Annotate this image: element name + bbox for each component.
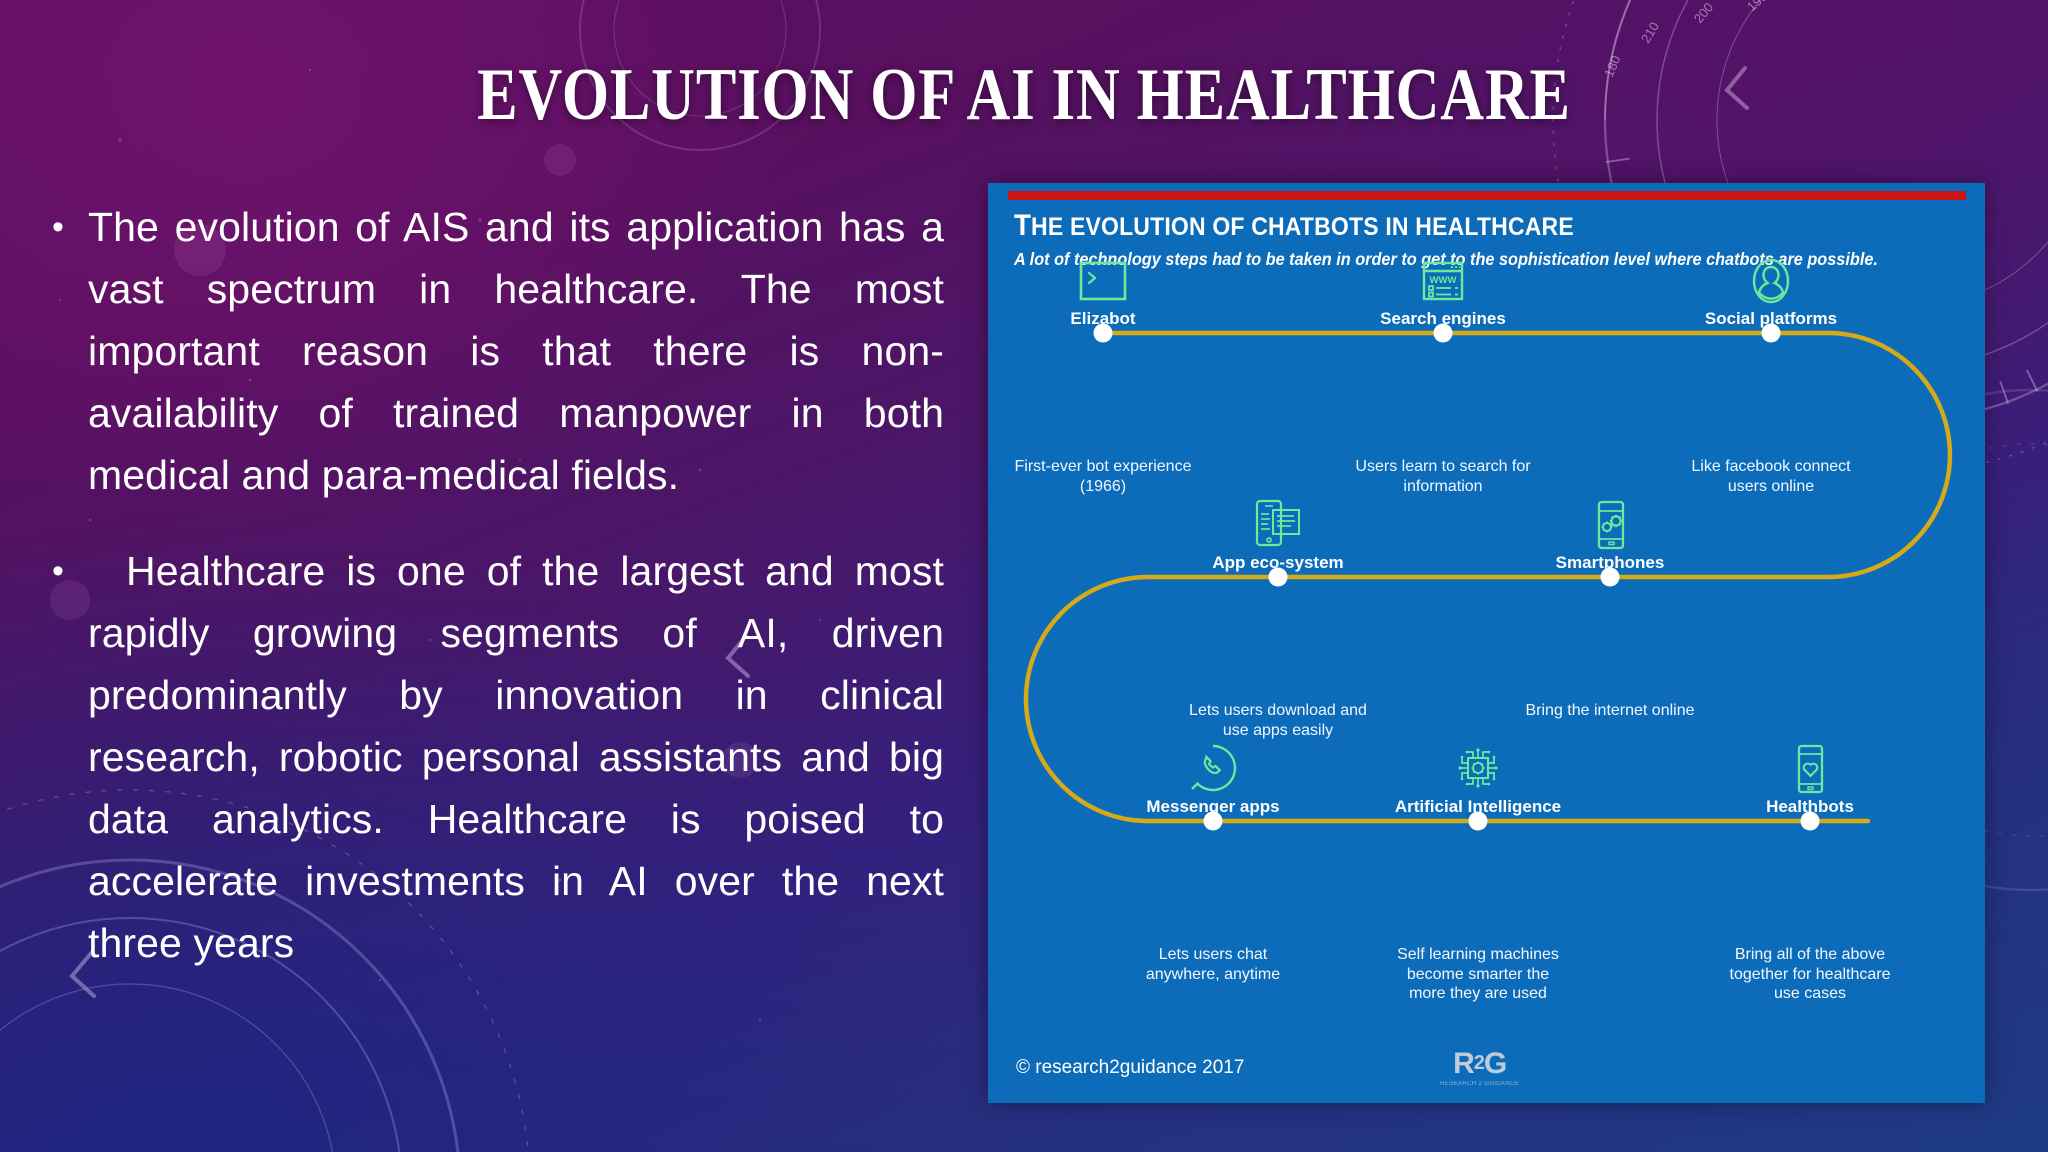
bullet-marker: • — [44, 540, 88, 602]
step-desc: Bring the internet online — [1480, 701, 1740, 721]
svg-text:210: 210 — [1638, 19, 1662, 45]
timeline-step-search-engines[interactable]: WWW Search engines Users learn to search… — [1313, 231, 1573, 496]
bullet-item-1: • The evolution of AIS and its applicati… — [44, 196, 944, 506]
timeline-step-app-eco-system[interactable]: App eco-system Lets users download and u… — [1148, 475, 1408, 740]
step-title: Smartphones — [1480, 553, 1740, 573]
bullet-marker: • — [44, 196, 88, 258]
smartphone-gears-icon — [1480, 475, 1740, 553]
svg-text:WWW: WWW — [1430, 275, 1457, 286]
infographic-panel: THE EVOLUTION OF CHATBOTS IN HEALTHCARE … — [988, 183, 1985, 1103]
timeline-step-messenger-apps[interactable]: Messenger apps Lets users chat anywhere,… — [1083, 719, 1343, 984]
timeline-step-healthbots[interactable]: Healthbots Bring all of the above togeth… — [1680, 719, 1940, 1004]
bullet-text-1: The evolution of AIS and its application… — [88, 196, 944, 506]
r2g-logo-tagline: RESEARCH 2 GUIDANCE — [1440, 1081, 1519, 1087]
step-title: Elizabot — [988, 309, 1233, 329]
svg-text:200: 200 — [1691, 0, 1716, 26]
step-desc: Bring all of the above together for heal… — [1680, 945, 1940, 1004]
copyright-text: © research2guidance 2017 — [1016, 1057, 1244, 1079]
timeline-step-social-platforms[interactable]: Social platforms Like facebook connect u… — [1641, 231, 1901, 496]
step-title: Search engines — [1313, 309, 1573, 329]
browser-www-icon: WWW — [1313, 231, 1573, 309]
r2g-logo: R2G RESEARCH 2 GUIDANCE — [1440, 1049, 1519, 1087]
body-text-block: • The evolution of AIS and its applicati… — [44, 196, 944, 1008]
page-title: EVOLUTION OF AI IN HEALTHCARE — [184, 58, 1863, 132]
step-desc: Lets users chat anywhere, anytime — [1083, 945, 1343, 984]
r2g-logo-mark: R2G — [1440, 1049, 1519, 1079]
timeline-step-artificial-intelligence[interactable]: Artificial Intelligence Self learning ma… — [1348, 719, 1608, 1004]
user-avatar-icon — [1641, 231, 1901, 309]
terminal-window-icon — [988, 231, 1233, 309]
step-title: App eco-system — [1148, 553, 1408, 573]
timeline-step-smartphones[interactable]: Smartphones Bring the internet online — [1480, 475, 1740, 721]
timeline-step-elizabot[interactable]: Elizabot First-ever bot experience (1966… — [988, 231, 1233, 496]
chat-phone-icon — [1083, 719, 1343, 797]
step-title: Artificial Intelligence — [1348, 797, 1608, 817]
phone-heart-icon — [1680, 719, 1940, 797]
svg-text:190: 190 — [1744, 0, 1770, 14]
step-title: Social platforms — [1641, 309, 1901, 329]
bullet-text-2: Healthcare is one of the largest and mos… — [88, 540, 944, 974]
step-title: Messenger apps — [1083, 797, 1343, 817]
slide-canvas: 210 200 190 180 — [0, 0, 2048, 1152]
step-title: Healthbots — [1680, 797, 1940, 817]
bullet-item-2: • Healthcare is one of the largest and m… — [44, 540, 944, 974]
phone-apps-icon — [1148, 475, 1408, 553]
ai-chip-icon — [1348, 719, 1608, 797]
step-desc: Self learning machines become smarter th… — [1348, 945, 1608, 1004]
